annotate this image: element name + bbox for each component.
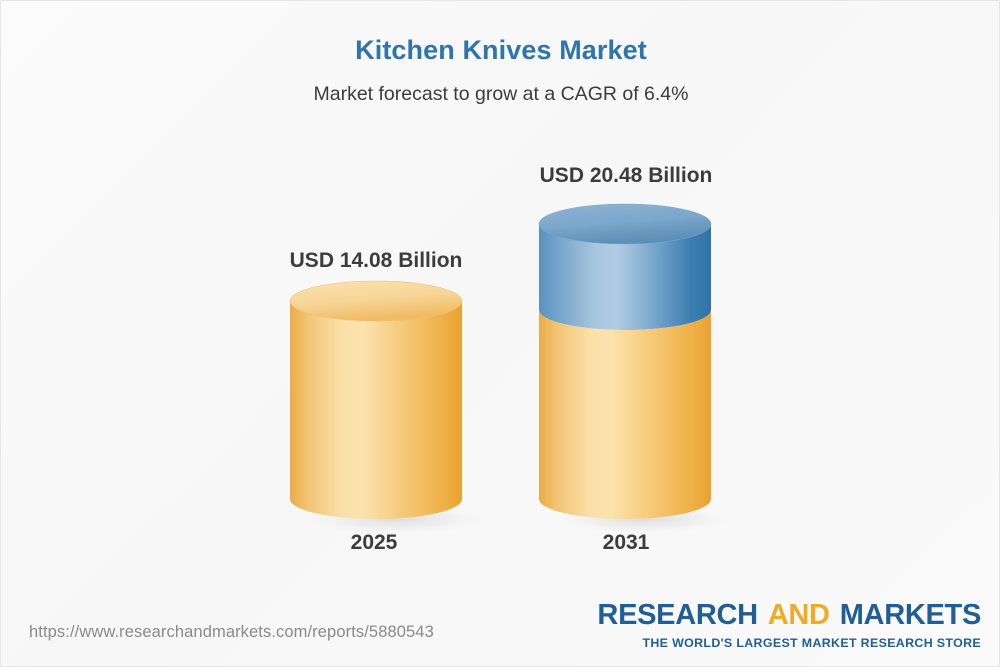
bar-top-cap-2031: [539, 204, 711, 244]
bar-cylinder-2025: [283, 281, 483, 531]
chart-plot-area: USD 14.08 Billion: [1, 1, 1000, 601]
bar-cylinder-2031: [532, 196, 732, 531]
logo-word-research: RESEARCH: [597, 599, 757, 631]
research-and-markets-logo[interactable]: RESEARCHANDMARKETS THE WORLD'S LARGEST M…: [597, 601, 981, 649]
logo-word-markets: MARKETS: [840, 599, 981, 631]
value-label-2031: USD 20.48 Billion: [466, 164, 786, 188]
logo-word-and: AND: [768, 599, 830, 631]
bar-body-2025: [290, 301, 462, 519]
bar-top-cap-2025: [290, 281, 462, 321]
value-label-2025: USD 14.08 Billion: [216, 249, 536, 273]
report-url-link[interactable]: https://www.researchandmarkets.com/repor…: [29, 623, 434, 642]
logo-tagline: THE WORLD'S LARGEST MARKET RESEARCH STOR…: [597, 637, 981, 649]
infographic-canvas: Kitchen Knives Market Market forecast to…: [0, 0, 1000, 667]
bar-segment-base-2031: [539, 310, 711, 519]
category-label-2031: 2031: [466, 531, 786, 555]
logo-wordmark: RESEARCHANDMARKETS: [597, 601, 981, 630]
